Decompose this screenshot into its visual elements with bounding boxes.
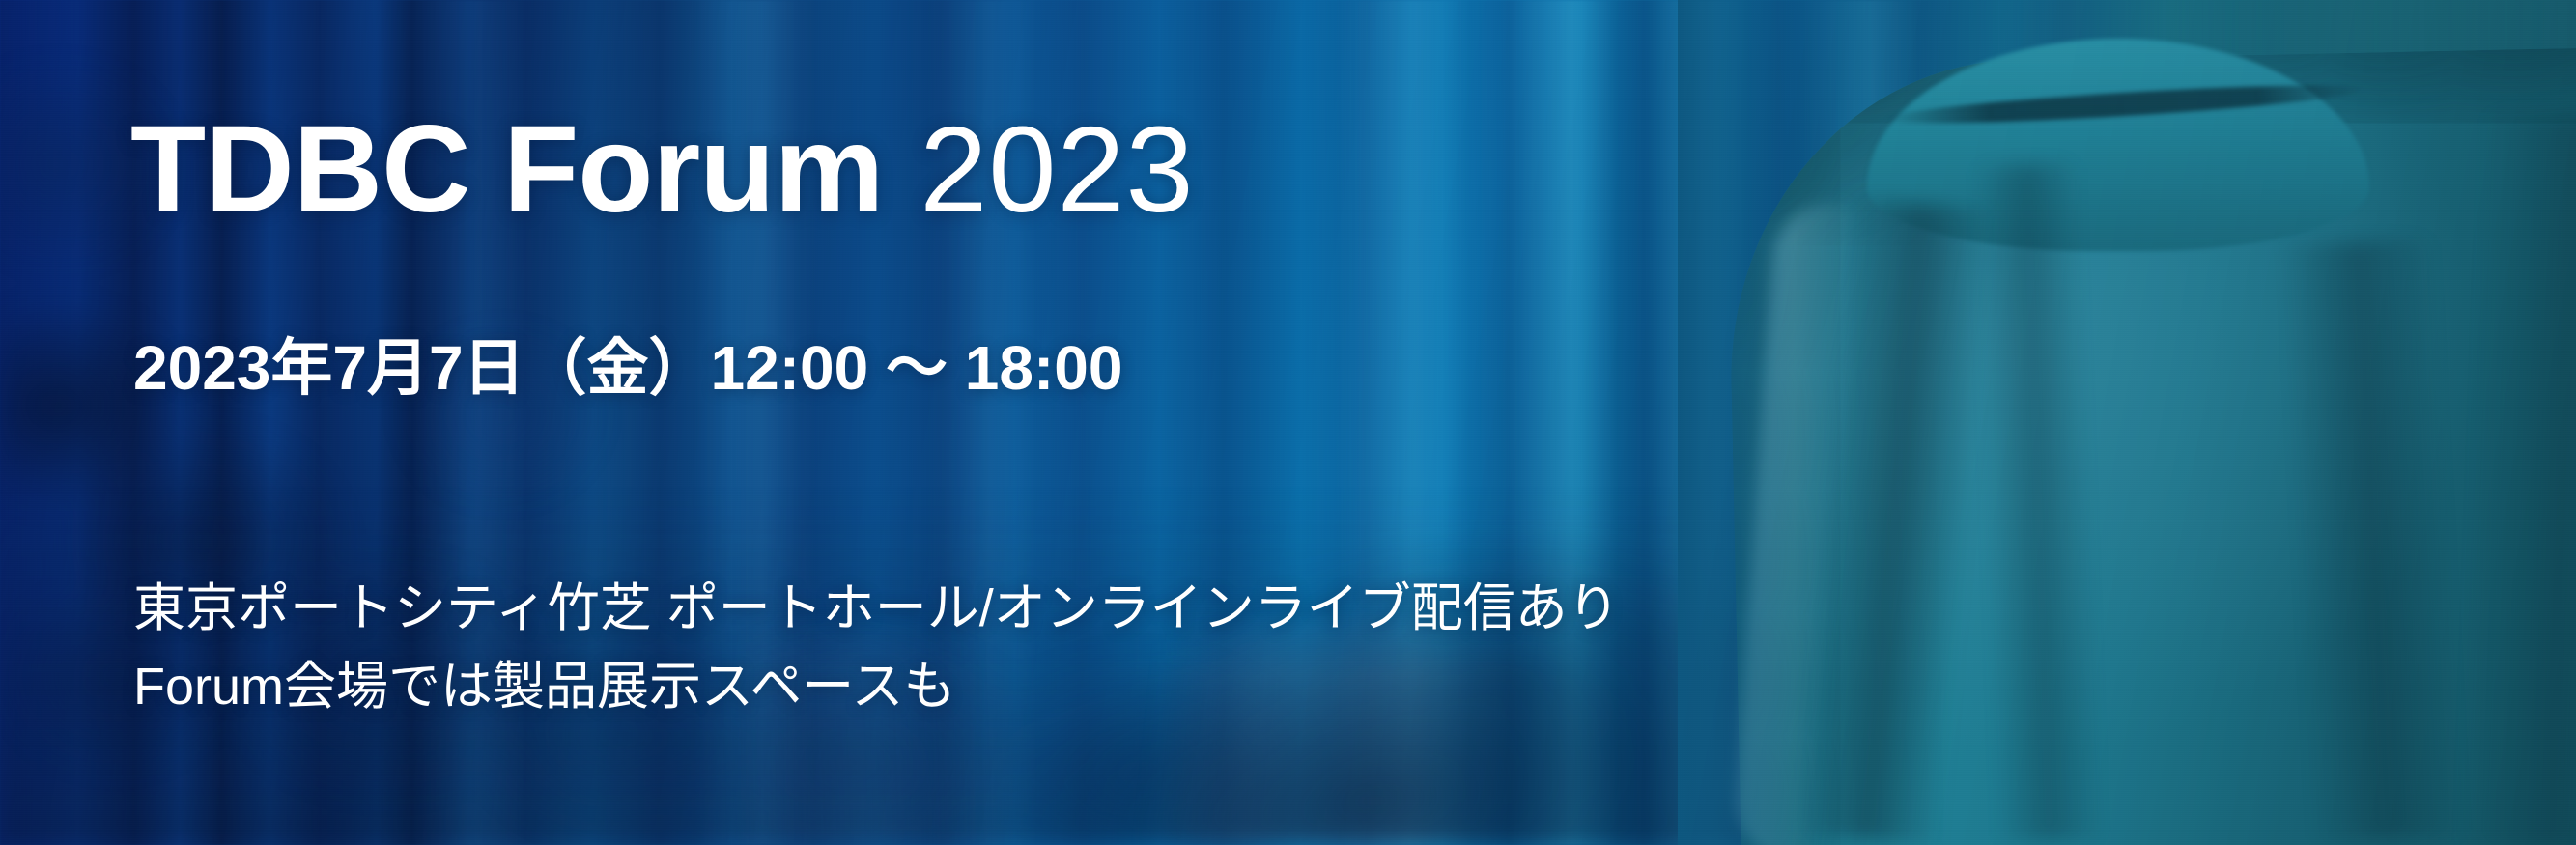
- event-venue-block: 東京ポートシティ竹芝 ポートホール/オンラインライブ配信あり Forum会場では…: [133, 570, 1620, 726]
- event-datetime: 2023年7月7日（金）12:00 ～ 18:00: [133, 333, 1123, 405]
- event-hero-banner: TDBC Forum 2023 2023年7月7日（金）12:00 ～ 18:0…: [0, 0, 2576, 845]
- event-title: TDBC Forum 2023: [130, 108, 1195, 232]
- event-title-main: TDBC Forum: [130, 108, 883, 232]
- event-exhibition-note: Forum会場では製品展示スペースも: [133, 648, 1620, 726]
- banner-content: TDBC Forum 2023 2023年7月7日（金）12:00 ～ 18:0…: [0, 0, 2576, 845]
- event-venue-line: 東京ポートシティ竹芝 ポートホール/オンラインライブ配信あり: [133, 570, 1620, 648]
- event-title-year: 2023: [920, 109, 1194, 231]
